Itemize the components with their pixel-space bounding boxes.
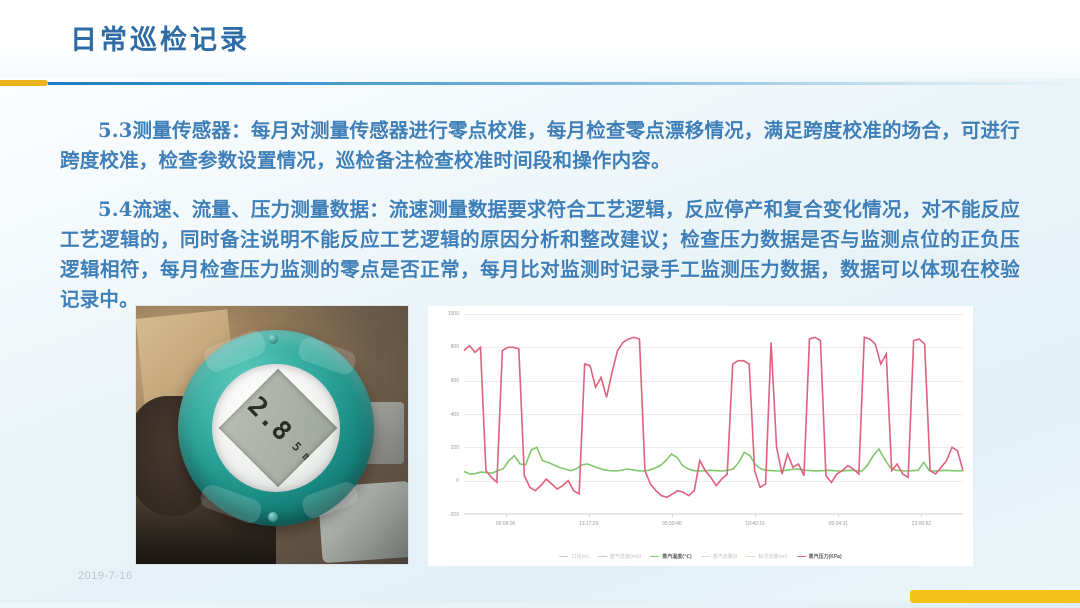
- legend-item[interactable]: 蒸汽压力(KPa): [797, 553, 842, 560]
- legend-swatch: [797, 556, 806, 558]
- legend-swatch: [559, 556, 568, 558]
- footer-gold-bar: [910, 590, 1080, 603]
- chart-x-tick-label: 00:08:06: [496, 521, 515, 527]
- chart-y-tick-label: 200: [451, 445, 459, 451]
- chart-series-layer: [464, 314, 963, 514]
- chart-x-tick-mark: [838, 514, 839, 517]
- chart-x-axis: [464, 513, 963, 514]
- chart-x-tick-mark: [921, 514, 922, 517]
- transmitter-housing: SIEMENS 2.8 5 m/s: [178, 330, 374, 526]
- divider-gold-segment: [0, 80, 48, 86]
- chart-x-tick-mark: [506, 514, 507, 517]
- chart-line-蒸汽压力(KPa): [464, 337, 963, 497]
- legend-item[interactable]: 蒸汽温度(℃): [650, 553, 691, 560]
- paragraph-5-4: 5.4流速、流量、压力测量数据：流速测量数据要求符合工艺逻辑，反应停产和复合变化…: [60, 195, 1020, 315]
- legend-item[interactable]: 口径(m): [559, 553, 589, 560]
- footer-date: 2019-7-16: [78, 570, 133, 582]
- chart-y-tick-label: -200: [449, 512, 459, 518]
- legend-label: 废气流速(m/s): [610, 553, 641, 560]
- paragraph-5-3: 5.3测量传感器：每月对测量传感器进行零点校准，每月检查零点漂移情况，满足跨度校…: [60, 116, 1020, 176]
- legend-label: 蒸汽温度(℃): [662, 553, 691, 560]
- chart-y-tick-label: 400: [451, 412, 459, 418]
- legend-label: 蒸汽压力(KPa): [809, 553, 842, 560]
- legend-item[interactable]: 废气流速(m/s): [598, 553, 641, 560]
- legend-swatch: [746, 556, 755, 558]
- footer-band: [0, 603, 1080, 608]
- chart-x-tick-label: 05:59:40: [662, 521, 681, 527]
- legend-label: 标况流量(m³): [758, 553, 787, 560]
- monitoring-chart-panel: 10008006004002000-200 00:08:0613:17:2905…: [428, 306, 973, 566]
- lcd-display: 2.8 5 m/s: [219, 369, 338, 488]
- chart-x-tick-label: 09:24:31: [829, 521, 848, 527]
- chart-y-tick-label: 0: [456, 478, 459, 484]
- housing-screw: [268, 512, 278, 522]
- chart-y-tick-label: 800: [451, 344, 459, 350]
- chart-x-tick-mark: [589, 514, 590, 517]
- chart-x-tick-label: 19:40:16: [745, 521, 764, 527]
- legend-swatch: [598, 556, 607, 558]
- chart-x-tick-mark: [672, 514, 673, 517]
- field-transmitter-photo: SIEMENS 2.8 5 m/s: [136, 306, 408, 564]
- divider-blue-line: [48, 82, 1080, 85]
- slide-header: 日常巡检记录: [0, 0, 1080, 78]
- legend-label: 口径(m): [571, 553, 589, 560]
- chart-x-tick-mark: [755, 514, 756, 517]
- chart-line-蒸汽温度(℃): [464, 447, 963, 474]
- chart-x-tick-label: 23:00:52: [912, 521, 931, 527]
- legend-swatch: [650, 556, 659, 558]
- page-title: 日常巡检记录: [70, 18, 250, 57]
- slide: 日常巡检记录 5.3测量传感器：每月对测量传感器进行零点校准，每月检查零点漂移情…: [0, 0, 1080, 608]
- body-text: 5.3测量传感器：每月对测量传感器进行零点校准，每月检查零点漂移情况，满足跨度校…: [60, 96, 1020, 335]
- header-divider: [0, 80, 1080, 86]
- chart-legend: 口径(m)废气流速(m/s)蒸汽温度(℃)蒸汽流量(t)标况流量(m³)蒸汽压力…: [428, 553, 973, 560]
- chart-plot-area: 10008006004002000-200 00:08:0613:17:2905…: [464, 314, 963, 514]
- legend-item[interactable]: 标况流量(m³): [746, 553, 787, 560]
- transmitter-faceplate: SIEMENS 2.8 5 m/s: [212, 364, 340, 492]
- legend-item[interactable]: 蒸汽流量(t): [701, 553, 738, 560]
- legend-swatch: [701, 556, 710, 558]
- chart-y-tick-label: 1000: [448, 311, 459, 317]
- chart-gridline: -200: [464, 514, 963, 515]
- legend-label: 蒸汽流量(t): [713, 553, 738, 560]
- chart-y-tick-label: 600: [451, 378, 459, 384]
- housing-screw: [268, 334, 278, 344]
- chart-x-tick-label: 13:17:29: [579, 521, 598, 527]
